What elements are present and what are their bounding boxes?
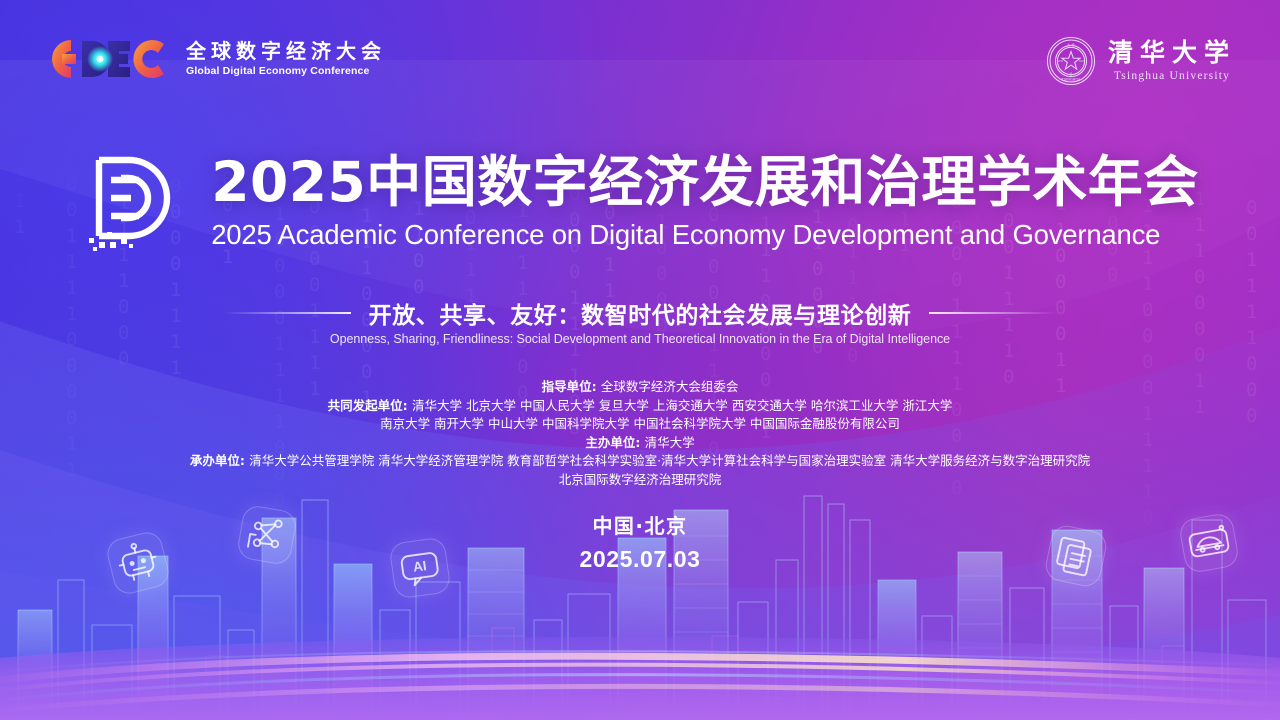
theme-rule-left — [223, 312, 351, 314]
theme-text-en: Openness, Sharing, Friendliness: Social … — [0, 332, 1280, 346]
organizer-block: 指导单位: 全球数字经济大会组委会共同发起单位: 清华大学 北京大学 中国人民大… — [0, 378, 1280, 490]
organizer-label: 指导单位: — [542, 379, 601, 394]
organizer-value: 南京大学 南开大学 中山大学 中国科学院大学 中国社会科学院大学 中国国际金融股… — [380, 416, 900, 431]
organizer-line: 主办单位: 清华大学 — [0, 434, 1280, 453]
main-title-row: 2025中国数字经济发展和治理学术年会 2025 Academic Confer… — [0, 150, 1280, 254]
page-title-en: 2025 Academic Conference on Digital Econ… — [211, 219, 1199, 251]
venue-block: 中国·北京 2025.07.03 — [0, 510, 1280, 573]
organizer-line: 指导单位: 全球数字经济大会组委会 — [0, 378, 1280, 397]
organizer-label: 主办单位: — [585, 435, 644, 450]
tsinghua-seal: 大 学 TSINGHUA — [1046, 36, 1096, 86]
theme-rule-right — [929, 312, 1057, 314]
gdec-logo-en: Global Digital Economy Conference — [186, 66, 386, 77]
conference-poster: 0 1 1 1 1 0 0 1 1 1 1 0 0 0 0 1 1 0 0 0 … — [0, 0, 1280, 720]
digital-d-emblem — [81, 150, 185, 254]
svg-text:大 学: 大 学 — [1067, 43, 1074, 48]
organizer-value: 全球数字经济大会组委会 — [601, 379, 739, 394]
page-title-cn: 2025中国数字经济发展和治理学术年会 — [211, 153, 1199, 212]
theme-text-cn: 开放、共享、友好：数智时代的社会发展与理论创新 — [369, 296, 912, 330]
organizer-value: 清华大学 — [645, 435, 695, 450]
svg-text:TSINGHUA: TSINGHUA — [1062, 78, 1081, 82]
organizer-label: 共同发起单位: — [328, 398, 412, 413]
theme-row: 开放、共享、友好：数智时代的社会发展与理论创新 — [0, 296, 1280, 330]
gdec-logo-mark — [48, 36, 172, 82]
organizer-value: 清华大学公共管理学院 清华大学经济管理学院 教育部哲学社会科学实验室·清华大学计… — [249, 453, 1090, 468]
tsinghua-logo: 大 学 TSINGHUA 清华大学 Tsinghua University — [1046, 36, 1236, 86]
organizer-label: 承办单位: — [190, 453, 249, 468]
venue-date: 2025.07.03 — [0, 546, 1280, 573]
organizer-line: 北京国际数字经济治理研究院 — [0, 471, 1280, 490]
venue-location: 中国·北京 — [0, 510, 1280, 539]
light-trail-road — [0, 624, 1280, 720]
organizer-line: 承办单位: 清华大学公共管理学院 清华大学经济管理学院 教育部哲学社会科学实验室… — [0, 452, 1280, 471]
tsinghua-name-cn: 清华大学 — [1108, 40, 1236, 65]
organizer-value: 北京国际数字经济治理研究院 — [559, 472, 722, 487]
gdec-logo: 全球数字经济大会 Global Digital Economy Conferen… — [48, 36, 386, 82]
organizer-line: 南京大学 南开大学 中山大学 中国科学院大学 中国社会科学院大学 中国国际金融股… — [0, 415, 1280, 434]
poster-header: 全球数字经济大会 Global Digital Economy Conferen… — [0, 0, 1280, 118]
organizer-value: 清华大学 北京大学 中国人民大学 复旦大学 上海交通大学 西安交通大学 哈尔滨工… — [412, 398, 952, 413]
tsinghua-name-en: Tsinghua University — [1108, 71, 1236, 83]
gdec-logo-cn: 全球数字经济大会 — [186, 41, 386, 61]
organizer-line: 共同发起单位: 清华大学 北京大学 中国人民大学 复旦大学 上海交通大学 西安交… — [0, 397, 1280, 416]
